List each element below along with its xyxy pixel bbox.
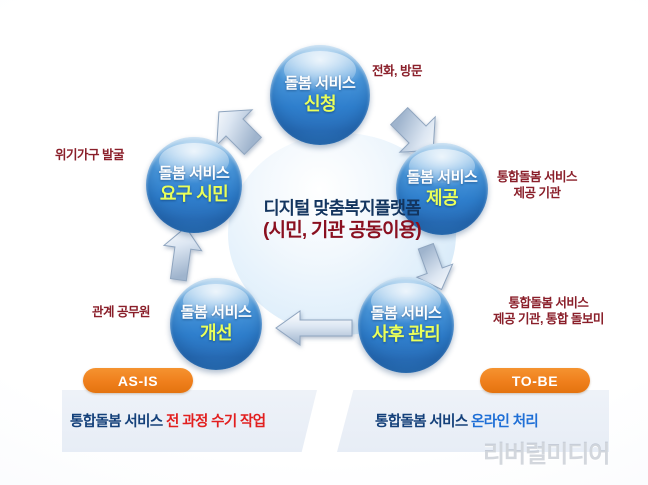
- as-is-description: 통합돌봄 서비스 전 과정 수기 작업: [70, 410, 266, 431]
- node-service-improve[interactable]: 돌봄 서비스 개선: [170, 278, 262, 370]
- node-label-primary: 돌봄 서비스: [159, 166, 230, 183]
- node-label-primary: 돌봄 서비스: [285, 76, 356, 93]
- infographic-canvas: 돌봄 서비스 신청 돌봄 서비스 요구 시민 돌봄 서비스 제공 돌봄 서비스 …: [0, 0, 648, 485]
- as-is-text-accent: 전 과정 수기 작업: [166, 414, 265, 430]
- node-service-request[interactable]: 돌봄 서비스 신청: [270, 45, 370, 145]
- to-be-text-plain: 통합돌봄 서비스: [375, 414, 471, 430]
- caption-phone-visit: 전화, 방문: [372, 64, 422, 80]
- caption-service-provider: 통합돌봄 서비스 제공 기관: [497, 170, 577, 201]
- as-is-text-plain: 통합돌봄 서비스: [70, 414, 166, 430]
- node-label-secondary: 사후 관리: [372, 324, 440, 344]
- node-label-secondary: 개선: [200, 323, 232, 343]
- badge-as-is: AS-IS: [83, 368, 193, 393]
- watermark: 리버럴미디어: [483, 434, 609, 469]
- caption-related-officer: 관계 공무원: [92, 305, 150, 321]
- node-label-secondary: 제공: [426, 188, 458, 208]
- node-label-primary: 돌봄 서비스: [407, 170, 478, 187]
- node-label-secondary: 요구 시민: [160, 184, 228, 204]
- to-be-text-accent: 온라인 처리: [471, 414, 538, 430]
- caption-crisis-household: 위기가구 발굴: [55, 148, 124, 164]
- platform-title: 디지털 맞춤복지플랫폼 (시민, 기관 공동이용): [228, 198, 456, 242]
- platform-title-line2: (시민, 기관 공동이용): [228, 220, 456, 242]
- node-service-followup[interactable]: 돌봄 서비스 사후 관리: [358, 277, 454, 373]
- caption-aftercare-provider: 통합돌봄 서비스 제공 기관, 통합 돌보미: [493, 296, 604, 327]
- node-label-primary: 돌봄 서비스: [181, 305, 252, 322]
- badge-to-be: TO-BE: [480, 368, 590, 393]
- platform-title-line1: 디지털 맞춤복지플랫폼: [228, 198, 456, 219]
- node-label-secondary: 신청: [304, 94, 336, 114]
- node-label-primary: 돌봄 서비스: [371, 306, 442, 323]
- to-be-description: 통합돌봄 서비스 온라인 처리: [375, 410, 538, 431]
- arrow-follow-to-improve: [272, 308, 356, 348]
